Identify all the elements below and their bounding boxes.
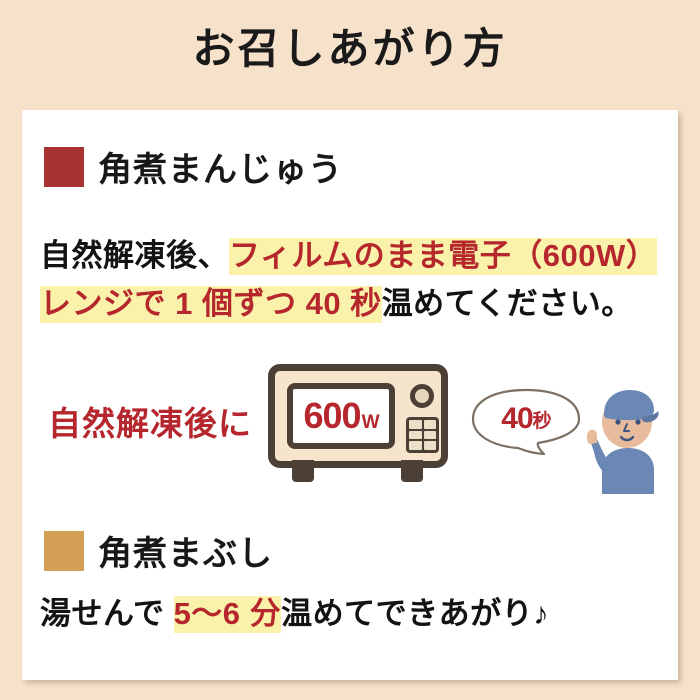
- keypad-button: [424, 441, 437, 450]
- instruction-line-3: 湯せんで 5〜6 分温めてできあがり♪: [40, 598, 549, 629]
- instruction-line-3-plain-prefix: 湯せんで: [40, 596, 174, 631]
- section-title-kakuni-mabushi: 角煮まぶし: [98, 526, 273, 575]
- color-swatch-red: [44, 147, 84, 187]
- instruction-line-3-highlight: 5〜6 分: [174, 596, 282, 633]
- dial-knob-icon: [410, 384, 434, 408]
- speech-bubble: 40秒: [470, 388, 582, 456]
- section-heading-kakuni-manju: 角煮まんじゅう: [44, 142, 343, 191]
- bubble-duration-unit: 秒: [533, 406, 551, 433]
- microwave-leg-left: [292, 460, 314, 482]
- microwave-wattage-value: 600: [303, 398, 360, 434]
- microwave-window: 600W: [287, 383, 395, 449]
- microwave-keypad: [406, 417, 439, 453]
- microwave-illustration: 600W: [268, 364, 448, 488]
- instruction-line-1-highlight: フィルムのまま電子（600W）: [229, 238, 657, 275]
- instruction-line-2: レンジで 1 個ずつ 40 秒温めてください。: [40, 288, 633, 319]
- microwave-wattage: 600W: [303, 398, 378, 434]
- instruction-line-1: 自然解凍後、フィルムのまま電子（600W）: [40, 240, 657, 271]
- microwave-wattage-unit: W: [362, 413, 379, 432]
- section-heading-kakuni-mabushi: 角煮まぶし: [44, 526, 273, 575]
- microwave-body: 600W: [268, 364, 448, 468]
- keypad-button: [409, 431, 422, 440]
- microwave-leg-right: [401, 460, 423, 482]
- thaw-first-caption: 自然解凍後に: [48, 397, 252, 445]
- section-title-kakuni-manju: 角煮まんじゅう: [98, 142, 343, 191]
- instruction-graphic: お召しあがり方 角煮まんじゅう 自然解凍後、フィルムのまま電子（600W） レン…: [0, 0, 700, 700]
- keypad-button: [409, 420, 422, 429]
- bubble-duration-value: 40: [501, 402, 532, 436]
- keypad-button: [409, 441, 422, 450]
- chef-character-icon: [580, 378, 676, 494]
- speech-bubble-text: 40秒: [470, 388, 582, 450]
- keypad-button: [424, 431, 437, 440]
- instruction-line-1-plain: 自然解凍後、: [40, 238, 229, 273]
- instruction-line-3-plain-suffix: 温めてできあがり♪: [281, 596, 549, 631]
- color-swatch-orange: [44, 531, 84, 571]
- page-title: お召しあがり方: [0, 24, 700, 74]
- instruction-line-2-plain: 温めてください。: [382, 286, 633, 321]
- chef-character-illustration: [580, 378, 676, 494]
- keypad-button: [424, 420, 437, 429]
- instruction-line-2-highlight: レンジで 1 個ずつ 40 秒: [40, 286, 382, 323]
